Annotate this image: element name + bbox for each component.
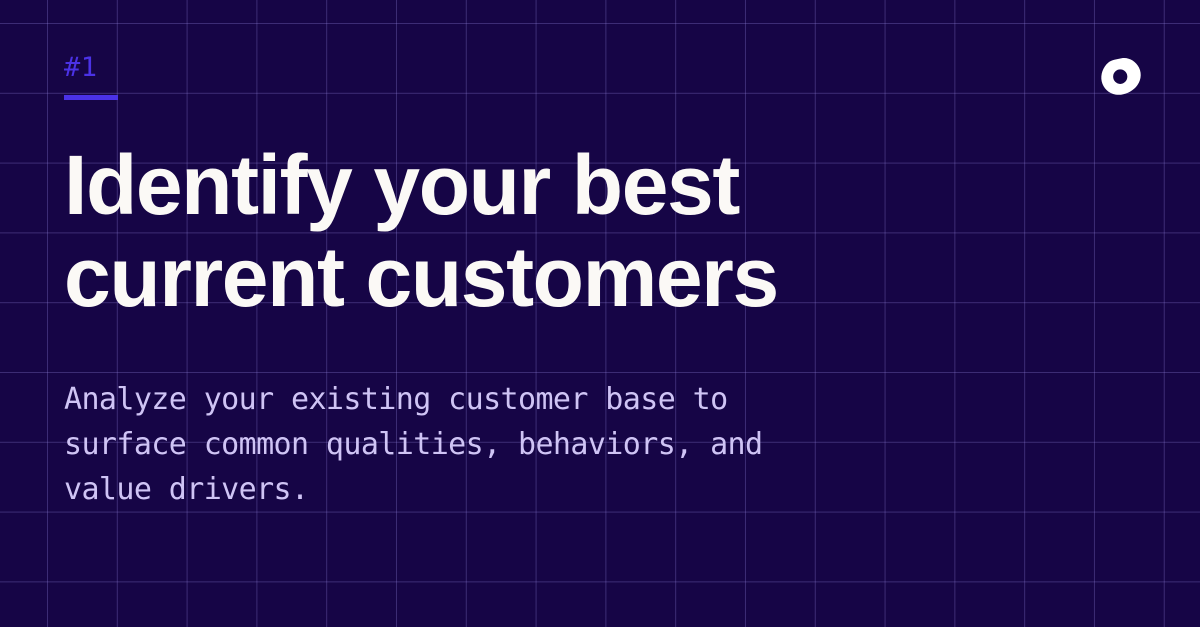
accent-underline-rule [64, 95, 118, 100]
step-badge: #1 [64, 54, 118, 100]
slide-canvas: #1 Identify your best current customers … [0, 0, 1200, 627]
brand-logo-icon [1098, 55, 1144, 101]
page-title: Identify your best current customers [64, 139, 1024, 324]
content-column: #1 Identify your best current customers … [64, 0, 1064, 627]
step-number-label: #1 [64, 54, 118, 81]
page-description: Analyze your existing customer base to s… [64, 377, 984, 512]
